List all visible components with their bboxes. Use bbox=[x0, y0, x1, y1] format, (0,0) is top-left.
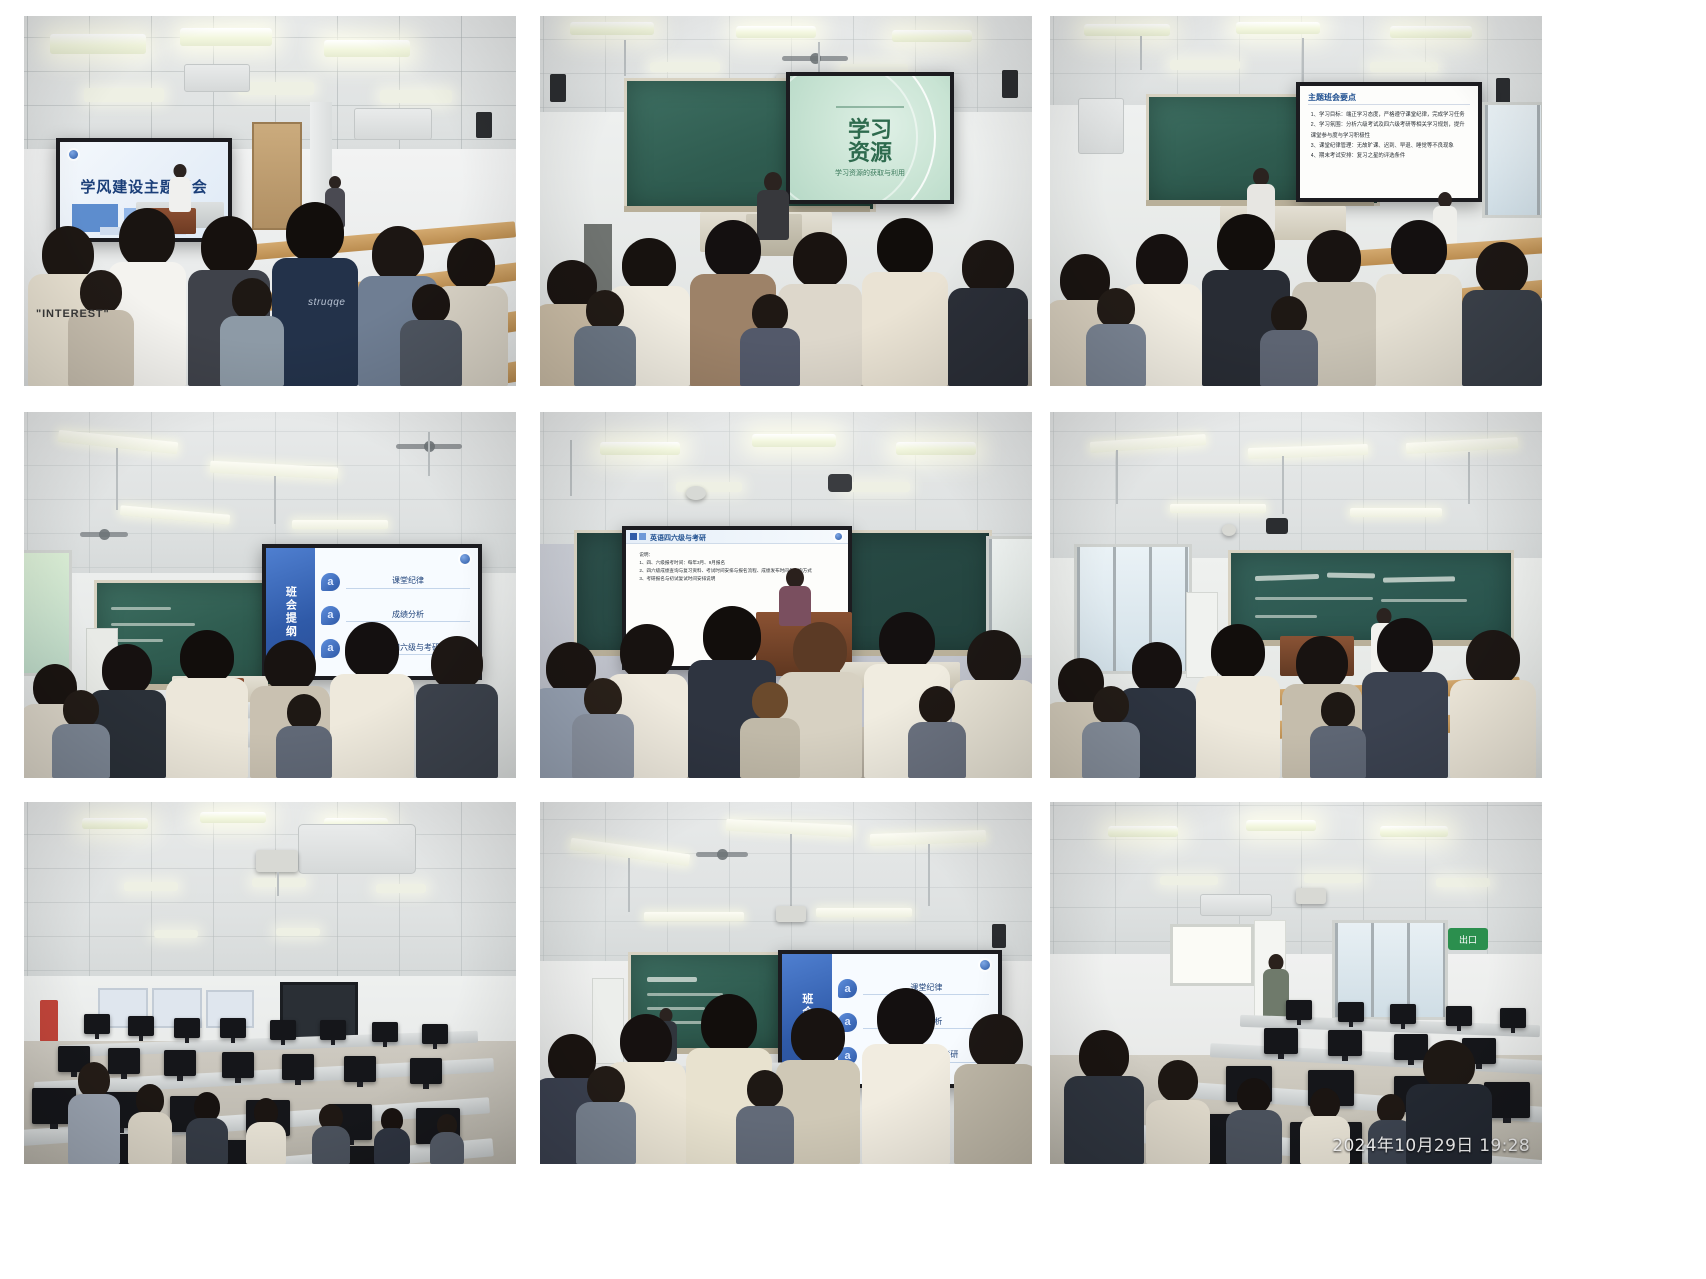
slide-bullets: 主题班会要点 1、学习目标：端正学习态度，严格遵守课堂纪律，完成学习任务 2、学… bbox=[1300, 86, 1478, 198]
slide-learning-resources: 学习 资源 学习资源的获取与利用 bbox=[790, 76, 950, 200]
hoodie-text: "INTEREST" bbox=[36, 308, 110, 320]
camera bbox=[1222, 524, 1236, 536]
scene-outline-slide: 班会提纲 a 课堂纪律 a 成绩分析 a bbox=[24, 412, 516, 778]
photo-cell-4[interactable]: 班会提纲 a 课堂纪律 a 成绩分析 a bbox=[24, 412, 516, 778]
scene-computer-lab-1 bbox=[24, 802, 516, 1164]
whiteboard bbox=[1170, 924, 1254, 986]
photo-cell-9[interactable]: 出口 bbox=[1050, 802, 1542, 1164]
bullet-item: 2、学习氛围：分析六级考试及四六级考研等相关学习规划，提升 bbox=[1311, 120, 1469, 128]
photo-cell-6[interactable] bbox=[1050, 412, 1542, 778]
scene-computer-lab-2: 出口 bbox=[1050, 802, 1542, 1164]
ceiling-fan bbox=[782, 56, 848, 61]
photo-cell-5[interactable]: 英语四六级与考研 说明： 1、四、六级报考时间：每年3月、9月报名 2、四六级成… bbox=[540, 412, 1032, 778]
air-conditioner bbox=[184, 64, 250, 92]
outline-row: a 课堂纪律 bbox=[321, 568, 469, 595]
ac-unit bbox=[1200, 894, 1272, 916]
scene-blackboard-writing bbox=[1050, 412, 1542, 778]
bullet-item: 课堂参与度与学习积极性 bbox=[1311, 131, 1469, 139]
projector bbox=[256, 850, 298, 872]
bullet-item: 3、课堂纪律管理：无故旷课、迟到、早退、睡觉等不良现象 bbox=[1311, 141, 1469, 149]
bullet-item: 1、四、六级报考时间：每年3月、9月报名 bbox=[639, 560, 837, 566]
wall-speaker bbox=[828, 474, 852, 492]
ac-unit bbox=[298, 824, 416, 874]
student-crowd bbox=[1050, 620, 1542, 778]
student-crowd bbox=[540, 598, 1032, 778]
student-crowd bbox=[540, 204, 1032, 386]
camera bbox=[686, 486, 706, 500]
projector bbox=[776, 906, 806, 922]
student-crowd bbox=[24, 1014, 516, 1164]
slide-title-text: 英语四六级与考研 bbox=[650, 533, 706, 543]
ceiling-fan bbox=[696, 852, 748, 857]
exit-sign: 出口 bbox=[1448, 928, 1488, 950]
photo-cell-1[interactable]: 学风建设主题班会 bbox=[24, 16, 516, 386]
ceiling bbox=[24, 802, 516, 1005]
projector bbox=[1296, 888, 1326, 904]
projection-screen: 主题班会要点 1、学习目标：端正学习态度，严格遵守课堂纪律，完成学习任务 2、学… bbox=[1296, 82, 1482, 202]
scene-outline-slide-2: 班会提纲 a 课堂纪律 a 成绩分析 a bbox=[540, 802, 1032, 1164]
scene-lecture-hall: 学风建设主题班会 bbox=[24, 16, 516, 386]
jacket-text: struqqe bbox=[308, 297, 346, 308]
slide-subtitle: 学习资源的获取与利用 bbox=[835, 168, 905, 178]
slide-title-text: 主题班会要点 bbox=[1308, 92, 1356, 103]
photo-cell-7[interactable] bbox=[24, 802, 516, 1164]
wall-speaker bbox=[476, 112, 492, 138]
projection-screen: 学习 资源 学习资源的获取与利用 bbox=[786, 72, 954, 204]
scene-classroom-green-slide: 学习 资源 学习资源的获取与利用 bbox=[540, 16, 1032, 386]
timestamp-watermark: 2024年10月29日 19:28 bbox=[1332, 1131, 1530, 1156]
bullet-glyph: a bbox=[321, 573, 340, 592]
student-crowd bbox=[1050, 196, 1542, 386]
slide-title-text: 学习 资源 bbox=[848, 118, 892, 164]
bullet-item: 4、期末考试安排：复习之星的评选条件 bbox=[1311, 151, 1469, 159]
scene-cet-lecture: 英语四六级与考研 说明： 1、四、六级报考时间：每年3月、9月报名 2、四六级成… bbox=[540, 412, 1032, 778]
photo-collage: 学风建设主题班会 bbox=[0, 0, 1706, 1279]
bullet-item: 1、学习目标：端正学习态度，严格遵守课堂纪律，完成学习任务 bbox=[1311, 110, 1469, 118]
photo-cell-2[interactable]: 学习 资源 学习资源的获取与利用 bbox=[540, 16, 1032, 386]
student-crowd bbox=[24, 618, 516, 778]
student-crowd bbox=[540, 988, 1032, 1164]
student-crowd bbox=[24, 156, 516, 386]
photo-cell-8[interactable]: 班会提纲 a 课堂纪律 a 成绩分析 a bbox=[540, 802, 1032, 1164]
outline-item: 课堂纪律 bbox=[346, 575, 469, 588]
scene-classroom-bullets: 主题班会要点 1、学习目标：端正学习态度，严格遵守课堂纪律，完成学习任务 2、学… bbox=[1050, 16, 1542, 386]
bullet-item: 说明： bbox=[639, 552, 837, 558]
photo-cell-3[interactable]: 主题班会要点 1、学习目标：端正学习态度，严格遵守课堂纪律，完成学习任务 2、学… bbox=[1050, 16, 1542, 386]
